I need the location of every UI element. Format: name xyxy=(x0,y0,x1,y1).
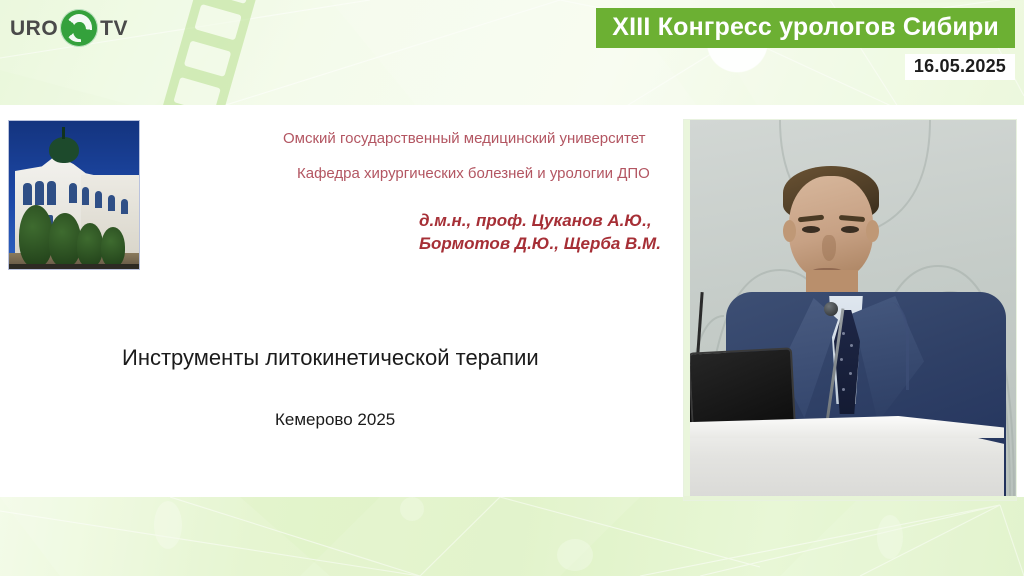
video-edge-left xyxy=(684,120,690,500)
uro-tv-logo[interactable]: URO TV xyxy=(10,8,128,48)
omsk-medical-university-building-photo xyxy=(8,120,140,270)
speaker-ear-left xyxy=(783,220,796,242)
uro-tv-emblem-icon xyxy=(60,9,98,47)
logo-text-uro: URO xyxy=(10,18,58,39)
authors-line-1: д.м.н., проф. Цуканов А.Ю., xyxy=(419,210,661,233)
authors-line-2: Бормотов Д.Ю., Щерба В.М. xyxy=(419,233,661,256)
polygon-network-pattern-bottom xyxy=(0,497,1024,576)
speaker-video-feed[interactable] xyxy=(684,120,1016,500)
logo-text-tv: TV xyxy=(100,18,128,39)
presentation-stream-frame: URO TV XIII Конгресс урологов Сибири 16.… xyxy=(0,0,1024,576)
congress-title-banner: XIII Конгресс урологов Сибири xyxy=(596,8,1015,48)
organization-line-2: Кафедра хирургических болезней и урологи… xyxy=(297,165,650,182)
speaker-eye-right xyxy=(841,226,859,233)
city-year-line: Кемерово 2025 xyxy=(275,410,395,430)
organization-line-1: Омский государственный медицинский униве… xyxy=(283,130,645,147)
slide-title: Инструменты литокинетической терапии xyxy=(122,345,539,371)
video-edge-bottom xyxy=(684,496,1016,500)
speaker-eye-left xyxy=(802,226,820,233)
bottom-decorative-band xyxy=(0,497,1024,576)
date-badge: 16.05.2025 xyxy=(905,54,1015,80)
speaker-nose xyxy=(822,235,836,261)
authors-block: д.м.н., проф. Цуканов А.Ю., Бормотов Д.Ю… xyxy=(419,210,661,256)
speaker-ear-right xyxy=(866,220,879,242)
microphone-head-icon xyxy=(824,302,838,316)
lanyard-strap xyxy=(862,302,909,390)
